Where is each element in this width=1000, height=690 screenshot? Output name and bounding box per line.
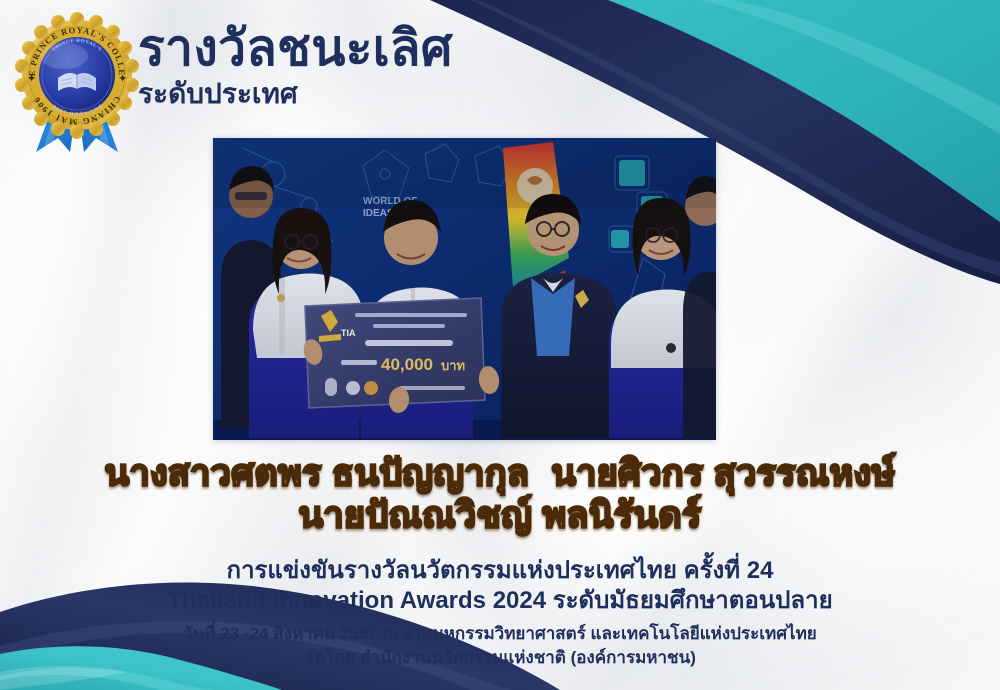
winner-name-line-2: นายปัณณวิชญ์ พลนิรันดร์	[0, 494, 1000, 536]
award-poster: THE PRINCE ROYAL'S COLLEGE CHIANG MAI 19…	[0, 0, 1000, 690]
venue-block: วันที่ 23 -24 สิงหาคม 2567 ณ งานมหกรรมวิ…	[0, 622, 1000, 670]
page-subtitle: ระดับประเทศ	[138, 79, 608, 110]
competition-name-en: Thailand Innovation Awards 2024 ระดับมัธ…	[0, 586, 1000, 616]
page-title: รางวัลชนะเลิศ	[138, 22, 608, 75]
header-text-block: รางวัลชนะเลิศ ระดับประเทศ	[138, 22, 608, 110]
winner-name-1: นางสาวศตพร ธนปัญญากุล	[105, 452, 530, 493]
competition-name-th: การแข่งขันรางวัลนวัตกรรมแห่งประเทศไทย คร…	[0, 556, 1000, 586]
competition-block: การแข่งขันรางวัลนวัตกรรมแห่งประเทศไทย คร…	[0, 556, 1000, 616]
award-ceremony-photo: WORLD OF IDEAS	[213, 138, 716, 440]
event-date-venue: วันที่ 23 -24 สิงหาคม 2567 ณ งานมหกรรมวิ…	[0, 622, 1000, 646]
winner-name-2: นายศิวกร สุวรรณหงษ์	[551, 452, 895, 493]
seal-star-left: ✦	[27, 73, 36, 85]
school-seal: THE PRINCE ROYAL'S COLLEGE CHIANG MAI 19…	[14, 12, 140, 152]
winner-name-line-1: นางสาวศตพร ธนปัญญากุลนายศิวกร สุวรรณหงษ์	[0, 452, 1000, 494]
winner-names: นางสาวศตพร ธนปัญญากุลนายศิวกร สุวรรณหงษ์…	[0, 452, 1000, 537]
poster-header: THE PRINCE ROYAL'S COLLEGE CHIANG MAI 19…	[0, 0, 620, 150]
seal-star-right: ✦	[118, 73, 127, 85]
event-organizer: จัดโดย สำนักงานนวัตกรรมแห่งชาติ (องค์การ…	[0, 646, 1000, 670]
